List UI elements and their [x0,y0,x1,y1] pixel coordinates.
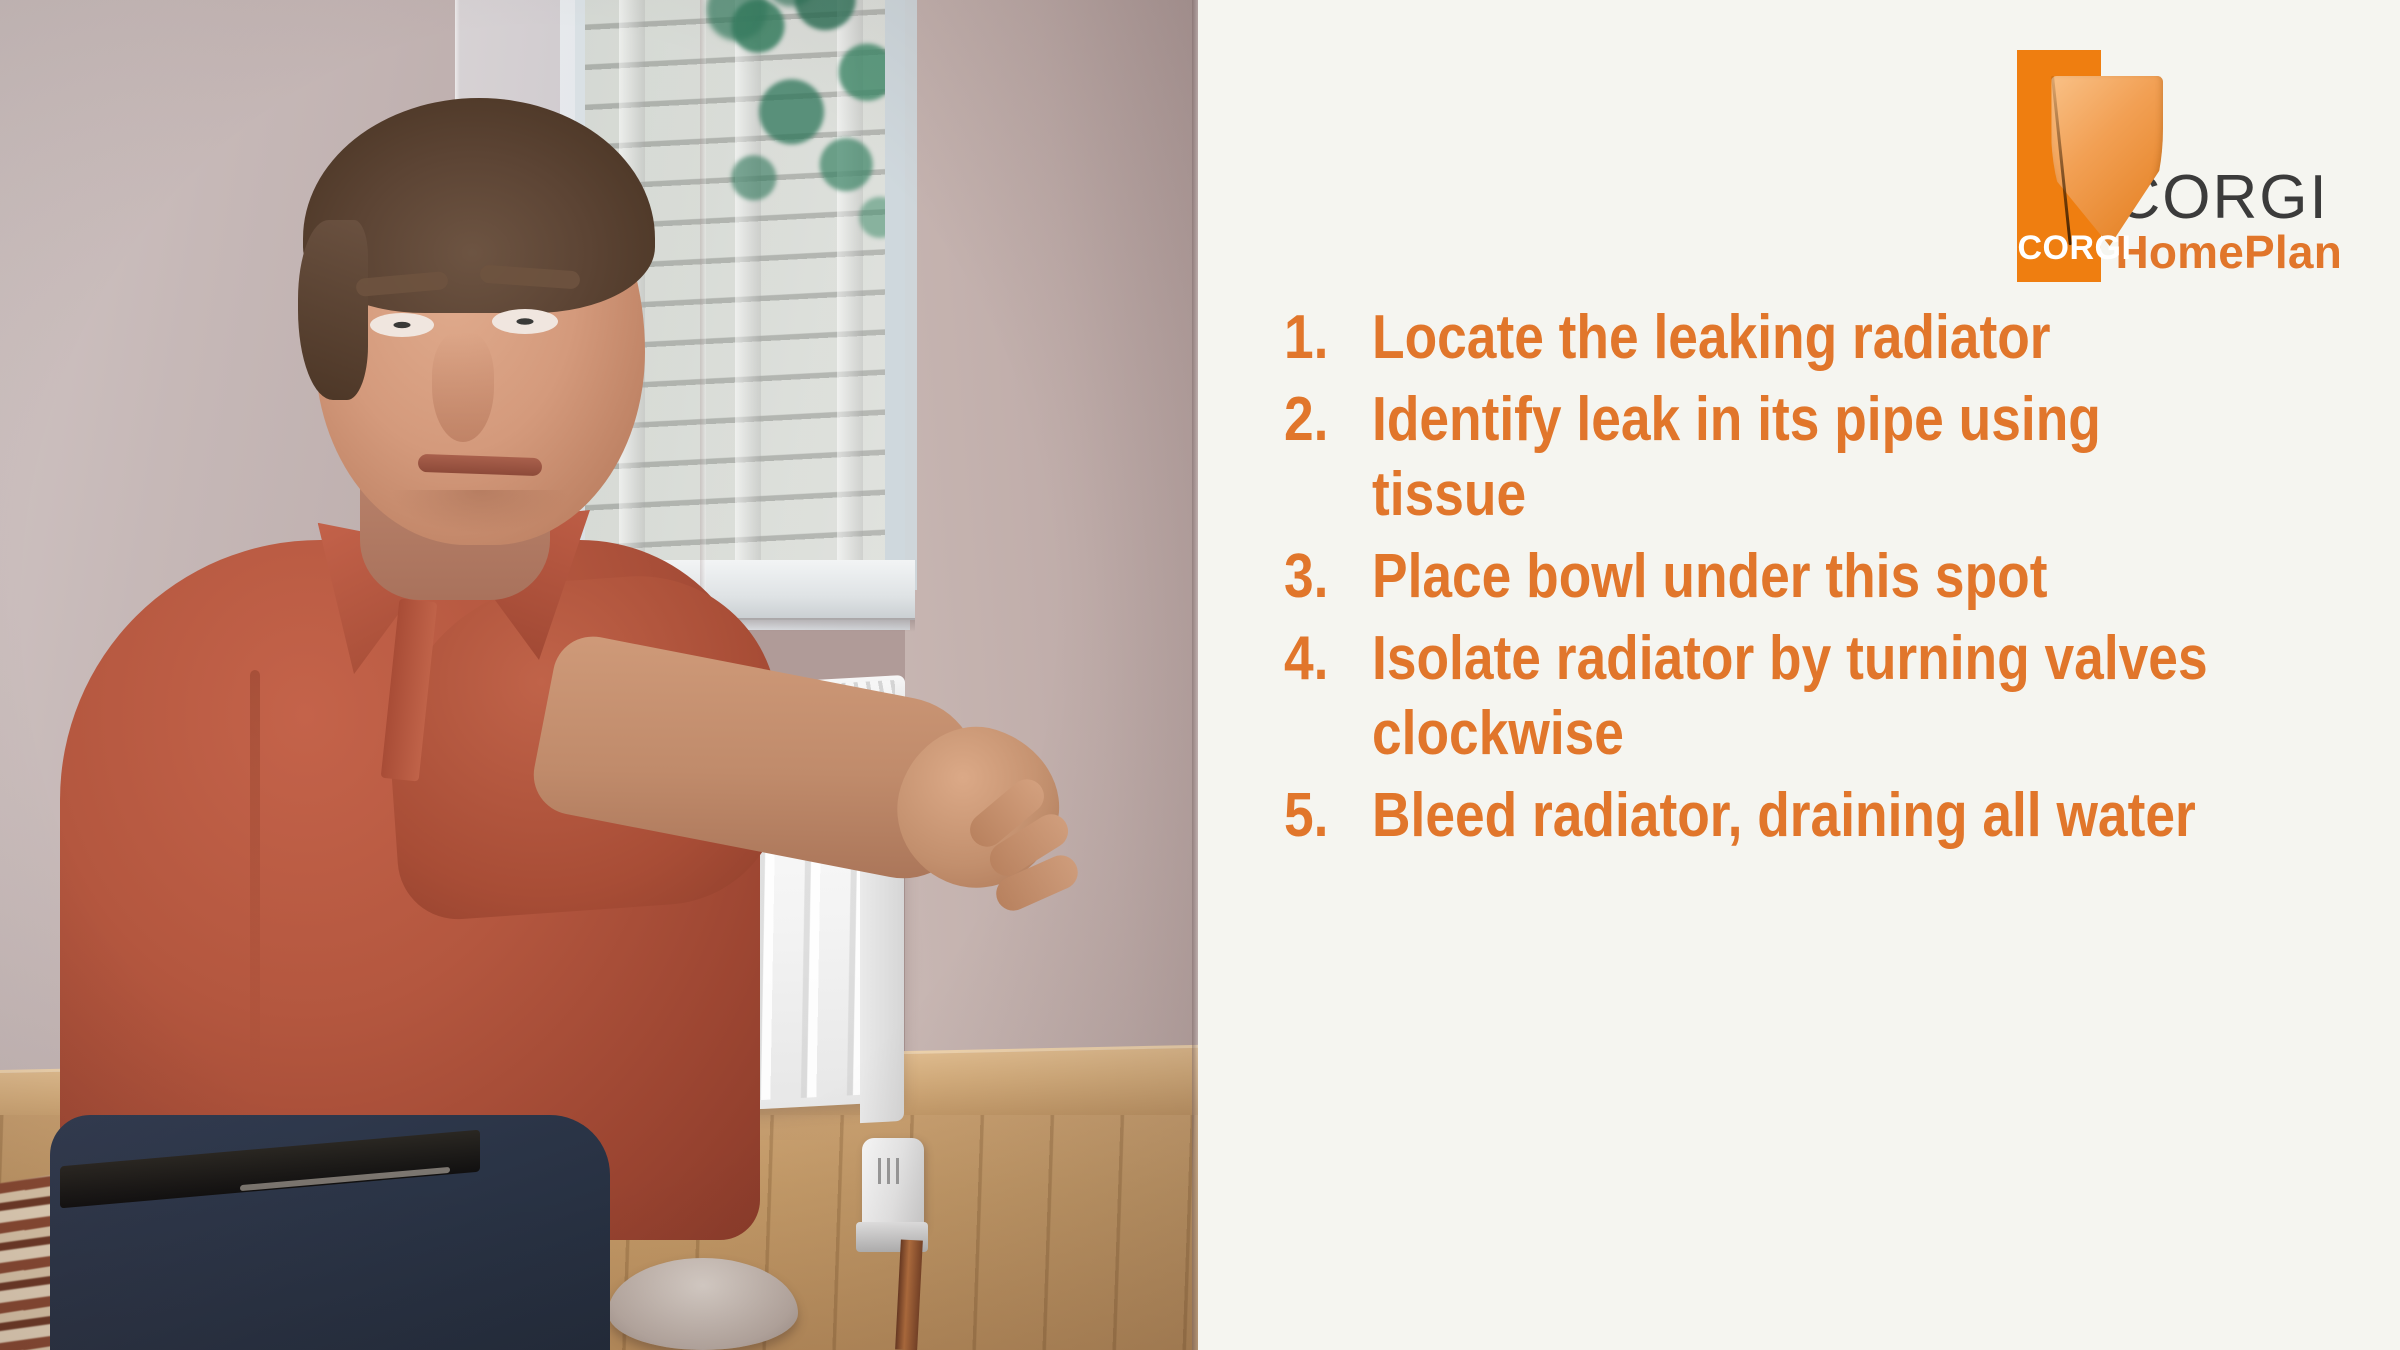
logo-wordmark: CORGI HomePlan [2115,169,2342,282]
step-text: Identify leak in its pipe using tissue [1372,382,2234,533]
eye-right [492,309,558,334]
list-item: 4. Isolate radiator by turning valves cl… [1284,621,2374,772]
step-number: 2. [1284,382,1360,458]
nose [432,332,494,442]
step-number: 5. [1284,778,1360,854]
step-text: Bleed radiator, draining all water [1372,778,2234,854]
step-number: 1. [1284,300,1360,376]
logo-brand-line2: HomePlan [2115,228,2342,278]
instructional-photo [0,0,1198,1350]
corgi-homeplan-logo[interactable]: CORGI CORGI HomePlan [2017,50,2342,282]
corgi-logo-mark: CORGI [2017,50,2101,282]
step-text: Isolate radiator by turning valves clock… [1372,621,2234,772]
logo-mark-text: CORGI [2017,229,2101,268]
list-item: 5. Bleed radiator, draining all water [1284,778,2374,854]
hair-side [298,220,368,400]
shirt-fold [250,670,260,1090]
chin-shadow [390,490,570,534]
slide-root: CORGI CORGI HomePlan 1. Locate the leaki… [0,0,2400,1350]
steps-list: 1. Locate the leaking radiator 2. Identi… [1284,300,2374,859]
list-item: 1. Locate the leaking radiator [1284,300,2374,376]
list-item: 3. Place bowl under this spot [1284,539,2374,615]
list-item: 2. Identify leak in its pipe using tissu… [1284,382,2374,533]
step-text: Locate the leaking radiator [1372,300,2234,376]
eye-left [370,313,434,337]
step-text: Place bowl under this spot [1372,539,2234,615]
step-number: 3. [1284,539,1360,615]
instructions-panel: CORGI CORGI HomePlan 1. Locate the leaki… [1198,0,2400,1350]
step-number: 4. [1284,621,1360,697]
